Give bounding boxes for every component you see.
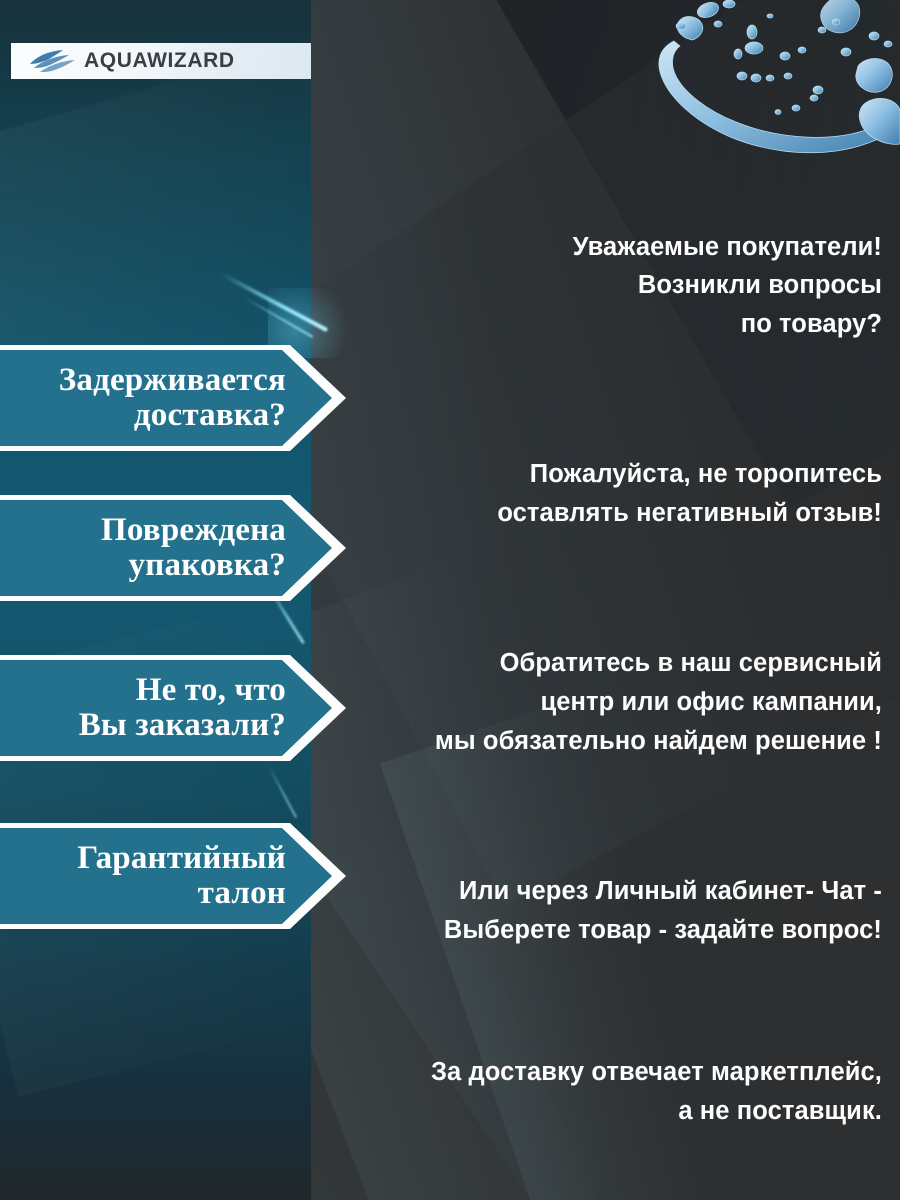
message-column: Уважаемые покупатели! Возникли вопросы п… xyxy=(330,150,882,1200)
message-block-marketplace: За доставку отвечает маркетплейс, а не п… xyxy=(330,1053,882,1131)
banner-line-1: Не то, что xyxy=(0,673,286,708)
banner-wrong-item[interactable]: Не то, что Вы заказали? xyxy=(0,655,346,761)
wave-icon xyxy=(29,49,77,73)
banner-line-1: Повреждена xyxy=(0,513,286,548)
message-block-no-negative: Пожалуйста, не торопитесь оставлять нега… xyxy=(330,455,882,533)
banner-line-2: упаковка? xyxy=(0,548,286,583)
brand-logo-text: AQUAWIZARD xyxy=(84,49,235,73)
banner-damaged-packaging[interactable]: Повреждена упаковка? xyxy=(0,495,346,601)
banner-line-2: доставка? xyxy=(0,398,286,433)
banner-line-1: Задерживается xyxy=(0,363,286,398)
message-block-greeting: Уважаемые покупатели! Возникли вопросы п… xyxy=(330,228,882,344)
banner-label: Задерживается доставка? xyxy=(0,345,294,451)
banner-line-2: талон xyxy=(0,876,286,911)
banner-label: Гарантийный талон xyxy=(0,823,294,929)
message-block-chat: Или через Личный кабинет- Чат - Выберете… xyxy=(330,872,882,950)
water-splash-icon xyxy=(650,0,900,154)
banner-label: Не то, что Вы заказали? xyxy=(0,655,294,761)
banner-delayed-delivery[interactable]: Задерживается доставка? xyxy=(0,345,346,451)
banner-warranty-card[interactable]: Гарантийный талон xyxy=(0,823,346,929)
brand-logo: AQUAWIZARD xyxy=(11,43,311,79)
banner-line-1: Гарантийный xyxy=(0,841,286,876)
banner-label: Повреждена упаковка? xyxy=(0,495,294,601)
poster-canvas: AQUAWIZARD Задерживается доставка? Повре… xyxy=(0,0,900,1200)
banner-line-2: Вы заказали? xyxy=(0,708,286,743)
message-block-contact: Обратитесь в наш сервисный центр или офи… xyxy=(330,644,882,760)
